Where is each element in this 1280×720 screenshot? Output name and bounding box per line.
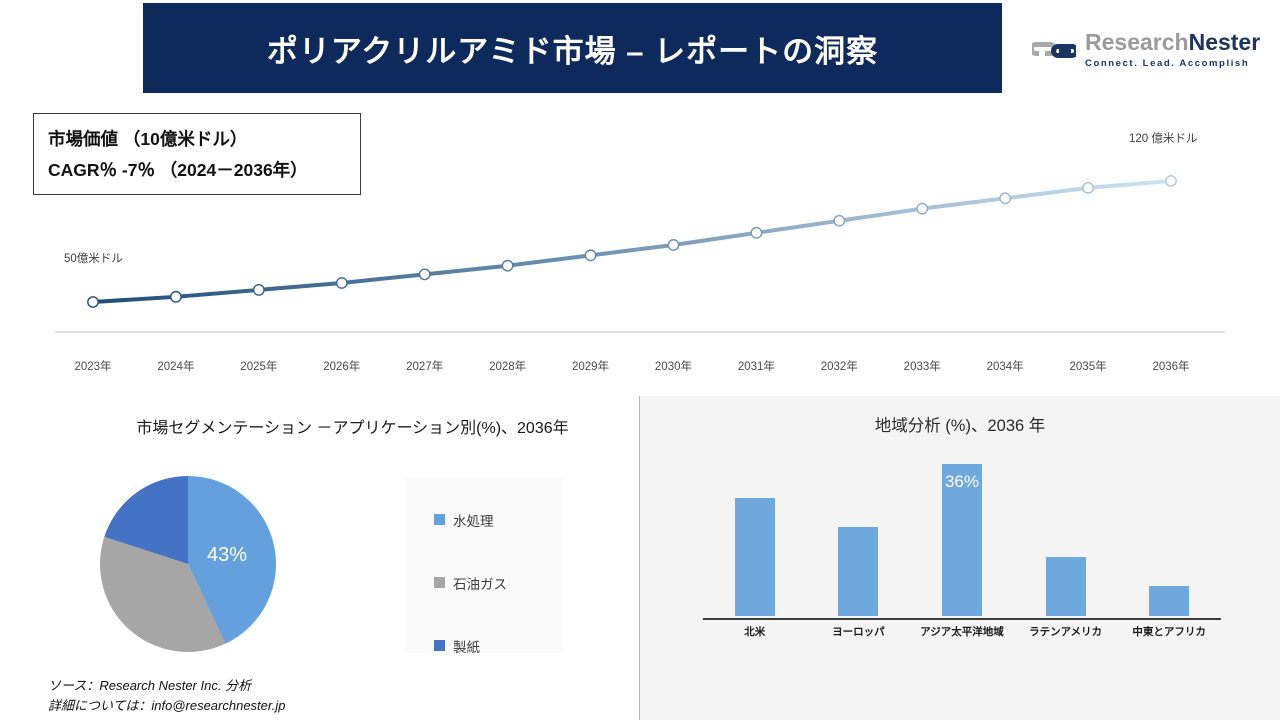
logo-wordmark: ResearchNester Connect. Lead. Accomplish — [1085, 31, 1260, 69]
line-chart-data-point — [502, 261, 512, 271]
line-chart-x-label: 2025年 — [214, 358, 304, 374]
line-chart-x-label: 2030年 — [628, 358, 718, 374]
bar-column — [1121, 456, 1217, 616]
line-chart-x-label: 2027年 — [380, 358, 470, 374]
regional-analysis-title: 地域分析 (%)、2036 年 — [640, 412, 1280, 436]
segmentation-pie-chart — [96, 474, 281, 654]
line-chart-x-label: 2032年 — [794, 358, 884, 374]
line-chart-data-point — [917, 203, 927, 213]
bar-column — [810, 456, 906, 616]
logo-word-nester: Nester — [1189, 29, 1261, 55]
legend-item[interactable]: 水処理 — [434, 488, 562, 551]
source-line-1: ソース：Research Nester Inc. 分析 — [48, 676, 285, 696]
bar-column — [707, 456, 803, 616]
line-chart-x-label: 2029年 — [546, 358, 636, 374]
bar-chart-x-axis-labels: 北米ヨーロッパアジア太平洋地域ラテンアメリカ中東とアフリカ — [703, 624, 1221, 639]
segmentation-title: 市場セグメンテーション －アプリケーション別(%)、2036年 — [95, 416, 610, 441]
line-chart-x-label: 2023年 — [48, 358, 138, 374]
line-chart-x-label: 2035年 — [1043, 358, 1133, 374]
legend-label: 製紙 — [453, 636, 480, 656]
bar[interactable] — [1149, 586, 1189, 616]
report-title-banner: ポリアクリルアミド市場 – レポートの洞察 — [143, 3, 1002, 93]
legend-swatch-icon — [434, 640, 445, 651]
source-note: ソース：Research Nester Inc. 分析 詳細については：info… — [48, 676, 285, 716]
legend-label: 水処理 — [453, 510, 494, 530]
line-chart-data-point — [254, 285, 264, 295]
line-chart-data-point — [337, 278, 347, 288]
line-chart-end-annotation: 120 億米ドル — [1129, 130, 1197, 146]
bar[interactable]: 36% — [942, 464, 982, 616]
logo-word-research: Research — [1085, 29, 1189, 55]
page-title: ポリアクリルアミド市場 – レポートの洞察 — [267, 26, 878, 71]
line-chart-x-label: 2028年 — [463, 358, 553, 374]
source-line-2: 詳細については：info@researchnester.jp — [48, 696, 285, 716]
legend-item[interactable]: 石油ガス — [434, 551, 562, 614]
line-chart-x-label: 2031年 — [711, 358, 801, 374]
line-chart-x-label: 2024年 — [131, 358, 221, 374]
line-chart-data-point — [585, 250, 595, 260]
legend-swatch-icon — [434, 514, 445, 525]
bar-chart-x-label: ヨーロッパ — [810, 624, 906, 639]
research-nester-logo: ResearchNester Connect. Lead. Accomplish — [1032, 24, 1264, 76]
line-chart-data-point — [1000, 193, 1010, 203]
bar-chart-x-label: ラテンアメリカ — [1018, 624, 1114, 639]
logo-title: ResearchNester — [1085, 31, 1260, 54]
line-chart-x-label: 2026年 — [297, 358, 387, 374]
line-chart-data-point — [419, 269, 429, 279]
pie-chart-canvas — [96, 474, 281, 654]
bar-value-label: 36% — [945, 472, 979, 492]
line-chart-x-label: 2033年 — [877, 358, 967, 374]
chain-link-logo-icon — [1032, 35, 1076, 65]
line-chart-data-point — [751, 228, 761, 238]
segmentation-panel: 市場セグメンテーション －アプリケーション別(%)、2036年 43% 水処理石… — [0, 396, 639, 720]
bar[interactable] — [838, 527, 878, 616]
legend-swatch-icon — [434, 577, 445, 588]
line-chart-canvas — [0, 100, 1280, 390]
line-chart-data-point — [834, 216, 844, 226]
line-chart-x-label: 2036年 — [1126, 358, 1216, 374]
logo-tagline: Connect. Lead. Accomplish — [1085, 59, 1260, 69]
bar-column — [1018, 456, 1114, 616]
regional-bar-chart: 36% — [703, 456, 1221, 616]
legend-item[interactable]: 製紙 — [434, 614, 562, 677]
bar-chart-x-label: 北米 — [707, 624, 803, 639]
legend-label: 石油ガス — [453, 573, 507, 593]
line-chart-data-point — [88, 297, 98, 307]
bar-column: 36% — [914, 456, 1010, 616]
pie-chart-legend: 水処理石油ガス製紙 — [406, 478, 562, 653]
market-value-line-chart — [0, 100, 1280, 390]
line-chart-start-annotation: 50億米ドル — [64, 250, 123, 266]
bar-chart-x-label: 中東とアフリカ — [1121, 624, 1217, 639]
line-chart-data-point — [668, 240, 678, 250]
line-chart-data-point — [171, 292, 181, 302]
bar[interactable] — [1046, 557, 1086, 616]
bar-chart-axis-line — [703, 618, 1221, 620]
bar-chart-x-label: アジア太平洋地域 — [914, 624, 1010, 639]
line-chart-data-point — [1083, 183, 1093, 193]
regional-analysis-panel: 地域分析 (%)、2036 年 36% 北米ヨーロッパアジア太平洋地域ラテンアメ… — [640, 396, 1280, 720]
pie-slice-value-label: 43% — [207, 544, 247, 567]
line-chart-x-label: 2034年 — [960, 358, 1050, 374]
line-chart-data-point — [1166, 176, 1176, 186]
bar[interactable] — [735, 498, 775, 616]
